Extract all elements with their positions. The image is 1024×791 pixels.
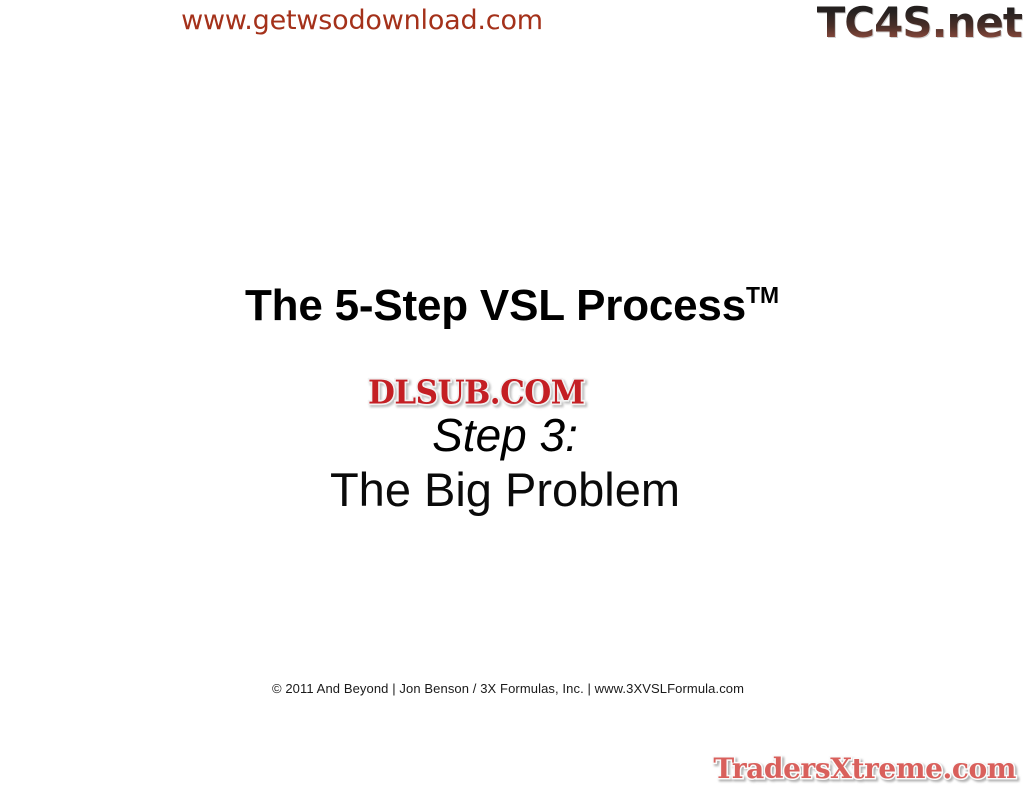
dlsub-watermark: DLSUB.COM bbox=[368, 374, 585, 412]
footer-credit: © 2011 And Beyond | Jon Benson / 3X Form… bbox=[0, 681, 1024, 696]
page-title-text: The 5-Step VSL Process bbox=[245, 281, 746, 330]
tc4s-site-logo: TC4S.net bbox=[817, 0, 1022, 47]
page-title: The 5-Step VSL ProcessTM bbox=[0, 281, 1024, 331]
subtitle-step-label: Step 3: bbox=[0, 408, 1024, 462]
tradersxtreme-brand-logo: TradersXtreme.com bbox=[713, 752, 1016, 785]
subtitle-topic-label: The Big Problem bbox=[0, 462, 1024, 517]
trademark-symbol: TM bbox=[746, 282, 779, 308]
presentation-slide: www.getwsodownload.com TC4S.net The 5-St… bbox=[0, 0, 1024, 791]
